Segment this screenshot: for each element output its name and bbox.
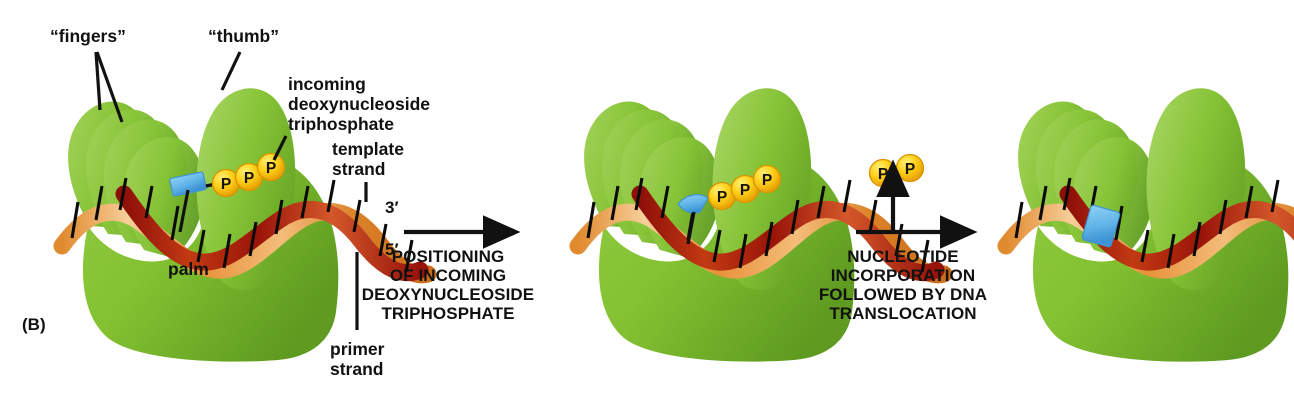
phosphate-label: P [266,160,276,177]
phosphate-label: P [762,172,772,189]
phosphate-label: P [244,170,254,187]
label-incoming-line1: incoming [288,74,366,94]
figure-canvas: P P P “fingers” “thumb” incoming deoxynu… [0,0,1294,400]
phosphate-label: P [878,166,888,183]
caption-incorporation-line3: FOLLOWED BY DNA [819,285,987,304]
caption-incorporation-line1: NUCLEOTIDE [847,247,959,266]
label-palm-text: palm [168,259,209,279]
caption-positioning-line4: TRIPHOSPHATE [381,304,514,323]
phosphate-label: P [905,161,915,178]
label-thumb-text: “thumb” [208,26,279,46]
caption-positioning-line1: POSITIONING [392,247,505,266]
label-3-prime: 3′ [385,198,399,217]
caption-positioning-line3: DEOXYNUCLEOSIDE [362,285,534,304]
label-incoming-line3: triphosphate [288,114,394,134]
label-incoming-line2: deoxynucleoside [288,94,430,114]
label-primer-line1: primer [330,339,385,359]
phosphate-label: P [740,182,750,199]
phosphate-label: P [221,176,231,193]
label-template-line2: strand [332,159,385,179]
label-fingers-text: “fingers” [50,26,126,46]
caption-incorporation-line2: INCORPORATION [831,266,976,285]
phosphate-label: P [717,189,727,206]
label-template-line1: template [332,139,404,159]
label-primer-line2: strand [330,359,383,379]
caption-positioning-line2: OF INCOMING [390,266,506,285]
caption-incorporation-line4: TRANSLOCATION [829,304,976,323]
panel-label-b: (B) [22,315,46,334]
label-palm: palm [168,259,209,279]
